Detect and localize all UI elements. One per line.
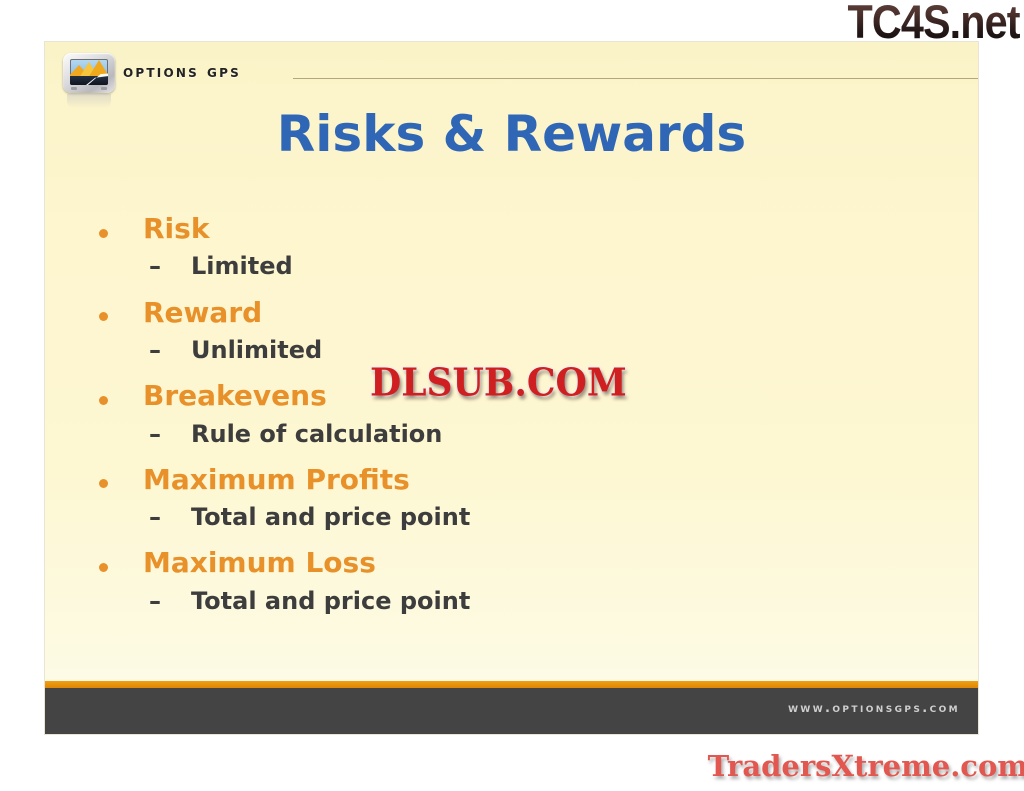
bullet-dot-icon <box>99 396 108 405</box>
bullet-label: Maximum Profits <box>143 463 410 496</box>
sub-bullet-item-reward: – Unlimited <box>95 338 958 363</box>
sub-bullet-item-risk: – Limited <box>95 254 958 279</box>
sub-bullet-item-breakevens: – Rule of calculation <box>95 422 958 447</box>
sub-bullet-label: Total and price point <box>191 587 470 615</box>
dash-marker-icon: – <box>149 589 161 614</box>
bullet-label: Reward <box>143 296 262 329</box>
dash-marker-icon: – <box>149 505 161 530</box>
gps-device-icon <box>63 53 115 93</box>
dlsub-watermark: DLSUB.COM <box>370 361 627 406</box>
slide-title: Risks & Rewards <box>45 105 978 163</box>
bullet-dot-icon <box>99 312 108 321</box>
gps-device-button-right <box>101 87 107 90</box>
brand-name: Options GPS <box>123 62 241 82</box>
bullet-item-maximum-profits: Maximum Profits <box>95 465 958 494</box>
footer-accent-stripe <box>45 681 978 688</box>
sub-bullet-label: Total and price point <box>191 503 470 531</box>
dash-marker-icon: – <box>149 338 161 363</box>
bullet-label: Risk <box>143 212 209 245</box>
dash-marker-icon: – <box>149 422 161 447</box>
bullet-item-risk: Risk <box>95 214 958 243</box>
bullet-label: Maximum Loss <box>143 546 376 579</box>
sub-bullet-label: Rule of calculation <box>191 420 442 448</box>
gps-device-screen <box>70 59 108 85</box>
dash-marker-icon: – <box>149 254 161 279</box>
sub-bullet-item-maximum-loss: – Total and price point <box>95 589 958 614</box>
header-divider <box>293 78 978 79</box>
gps-device-button-left <box>71 87 77 90</box>
sub-bullet-label: Limited <box>191 252 293 280</box>
bullet-label: Breakevens <box>143 379 327 412</box>
tc4s-watermark: TC4S.net <box>848 0 1020 49</box>
presentation-slide: Options GPS Risks & Rewards Risk – Limit… <box>45 42 978 734</box>
bullet-item-reward: Reward <box>95 298 958 327</box>
bullet-dot-icon <box>99 229 108 238</box>
footer-website-url: www.OptionsGPS.com <box>788 701 960 716</box>
bullet-item-maximum-loss: Maximum Loss <box>95 548 958 577</box>
bullet-dot-icon <box>99 563 108 572</box>
sub-bullet-item-maximum-profits: – Total and price point <box>95 505 958 530</box>
slide-header: Options GPS <box>45 42 978 100</box>
bullet-list: Risk – Limited Reward – Unlimited Breake… <box>95 214 958 632</box>
sub-bullet-label: Unlimited <box>191 336 322 364</box>
slide-footer: www.OptionsGPS.com <box>45 688 978 734</box>
tradersxtreme-watermark: TradersXtreme.com <box>708 749 1024 783</box>
bullet-dot-icon <box>99 479 108 488</box>
